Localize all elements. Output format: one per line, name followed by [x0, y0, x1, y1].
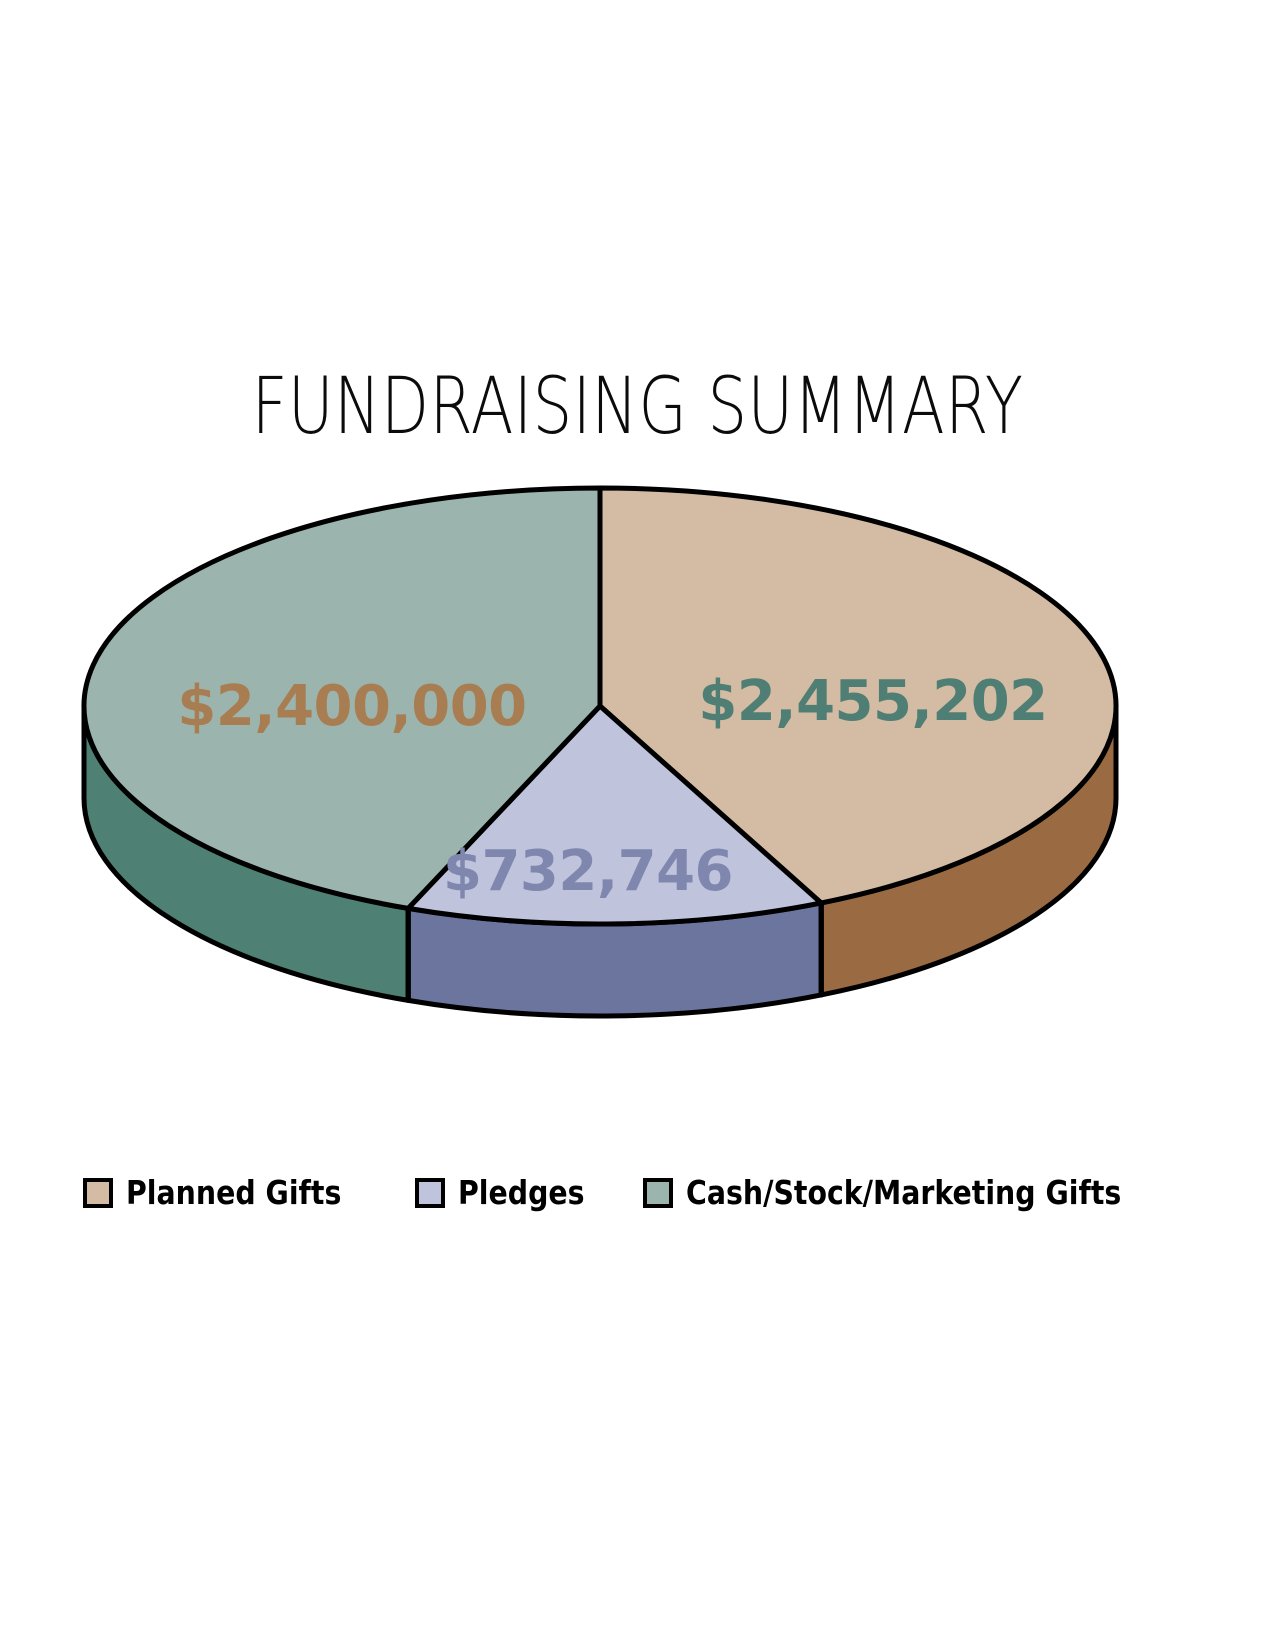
slice-label-cash-stock-marketing: $2,455,202: [698, 669, 1047, 734]
legend-item-pledges[interactable]: Pledges: [415, 1176, 605, 1209]
legend-swatch-cash-stock-marketing: [643, 1178, 673, 1208]
legend-swatch-pledges: [415, 1178, 445, 1208]
legend-label-cash-stock-marketing: Cash/Stock/Marketing Gifts: [686, 1176, 1121, 1209]
legend-item-planned-gifts[interactable]: Planned Gifts: [83, 1176, 376, 1209]
pie-svg: $2,400,000 $732,746 $2,455,202: [0, 480, 1275, 1100]
legend-label-planned-gifts: Planned Gifts: [126, 1176, 341, 1209]
legend-label-pledges: Pledges: [458, 1176, 585, 1209]
fundraising-summary-chart: FUNDRAISING SUMMARY $2,400,000 $732,746 …: [0, 0, 1275, 1650]
legend-item-cash-stock-marketing[interactable]: Cash/Stock/Marketing Gifts: [643, 1176, 1192, 1209]
pie-chart-graphic: $2,400,000 $732,746 $2,455,202: [0, 480, 1275, 1100]
chart-title: FUNDRAISING SUMMARY: [128, 368, 1148, 446]
slice-label-pledges: $732,746: [443, 839, 733, 904]
chart-legend: Planned Gifts Pledges Cash/Stock/Marketi…: [0, 1176, 1275, 1209]
slice-label-planned-gifts: $2,400,000: [177, 674, 526, 739]
legend-swatch-planned-gifts: [83, 1178, 113, 1208]
